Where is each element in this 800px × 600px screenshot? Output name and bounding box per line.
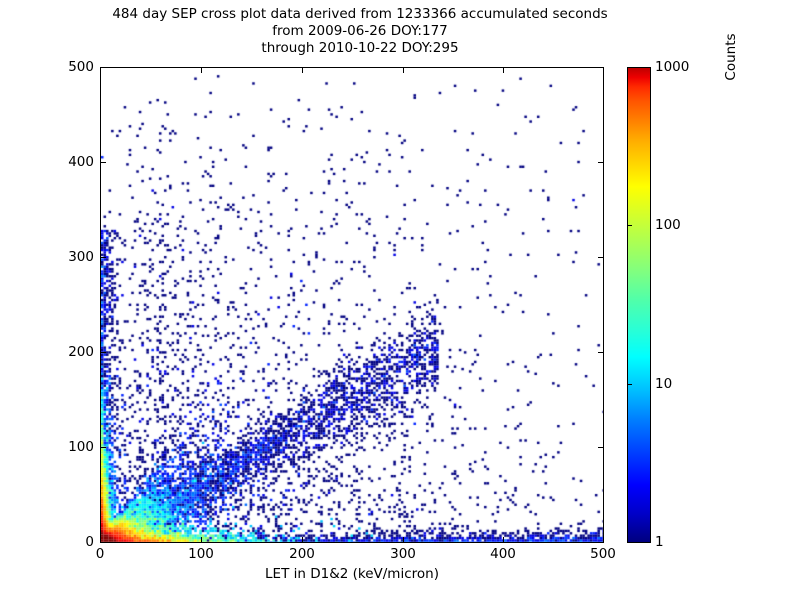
colorbar-ticklabel-1000: 1000 bbox=[655, 59, 689, 75]
y-tick-right-200 bbox=[598, 352, 604, 353]
y-tick-right-300 bbox=[598, 257, 604, 258]
x-tick-top-500 bbox=[603, 67, 604, 73]
y-ticklabel-200: 200 bbox=[68, 344, 94, 360]
colorbar-tick-10 bbox=[627, 384, 632, 385]
x-tick-300 bbox=[403, 537, 404, 543]
y-tick-200 bbox=[100, 352, 106, 353]
x-ticklabel-0: 0 bbox=[96, 546, 105, 562]
plot-axes-area bbox=[100, 67, 604, 543]
x-tick-top-300 bbox=[403, 67, 404, 73]
plot-title-line-2: from 2009-06-26 DOY:177 bbox=[0, 23, 720, 40]
colorbar-ticklabel-10: 10 bbox=[655, 376, 672, 392]
colorbar-label: Counts bbox=[723, 0, 743, 295]
x-ticklabel-400: 400 bbox=[490, 546, 516, 562]
x-tick-0 bbox=[100, 537, 101, 543]
colorbar-gradient bbox=[628, 68, 650, 542]
y-tick-400 bbox=[100, 162, 106, 163]
x-tick-200 bbox=[302, 537, 303, 543]
y-tick-100 bbox=[100, 447, 106, 448]
scatter-heatmap-canvas bbox=[101, 68, 604, 543]
y-ticklabel-300: 300 bbox=[68, 249, 94, 265]
x-tick-100 bbox=[201, 537, 202, 543]
x-tick-top-100 bbox=[201, 67, 202, 73]
x-tick-top-200 bbox=[302, 67, 303, 73]
x-tick-top-0 bbox=[100, 67, 101, 73]
colorbar-ticklabel-100: 100 bbox=[655, 217, 681, 233]
figure-canvas: 484 day SEP cross plot data derived from… bbox=[0, 0, 800, 600]
colorbar-tick-100 bbox=[627, 225, 632, 226]
colorbar-tick-1 bbox=[627, 542, 632, 543]
y-ticklabel-100: 100 bbox=[68, 439, 94, 455]
colorbar bbox=[627, 67, 651, 543]
x-axis-label: LET in D1&2 (keV/micron) bbox=[100, 566, 604, 582]
x-tick-top-400 bbox=[503, 67, 504, 73]
y-ticklabel-500: 500 bbox=[68, 59, 94, 75]
plot-title-line-1: 484 day SEP cross plot data derived from… bbox=[0, 6, 720, 23]
x-ticklabel-100: 100 bbox=[188, 546, 214, 562]
x-tick-500 bbox=[603, 537, 604, 543]
y-tick-300 bbox=[100, 257, 106, 258]
x-ticklabel-300: 300 bbox=[390, 546, 416, 562]
plot-title-line-3: through 2010-10-22 DOY:295 bbox=[0, 40, 720, 57]
y-ticklabel-400: 400 bbox=[68, 154, 94, 170]
colorbar-ticklabel-1: 1 bbox=[655, 534, 664, 550]
x-ticklabel-200: 200 bbox=[289, 546, 315, 562]
y-tick-right-100 bbox=[598, 447, 604, 448]
x-ticklabel-500: 500 bbox=[590, 546, 616, 562]
colorbar-tick-1000 bbox=[627, 67, 632, 68]
plot-title: 484 day SEP cross plot data derived from… bbox=[0, 6, 720, 57]
y-tick-right-400 bbox=[598, 162, 604, 163]
y-ticklabel-0: 0 bbox=[85, 534, 94, 550]
x-tick-400 bbox=[503, 537, 504, 543]
